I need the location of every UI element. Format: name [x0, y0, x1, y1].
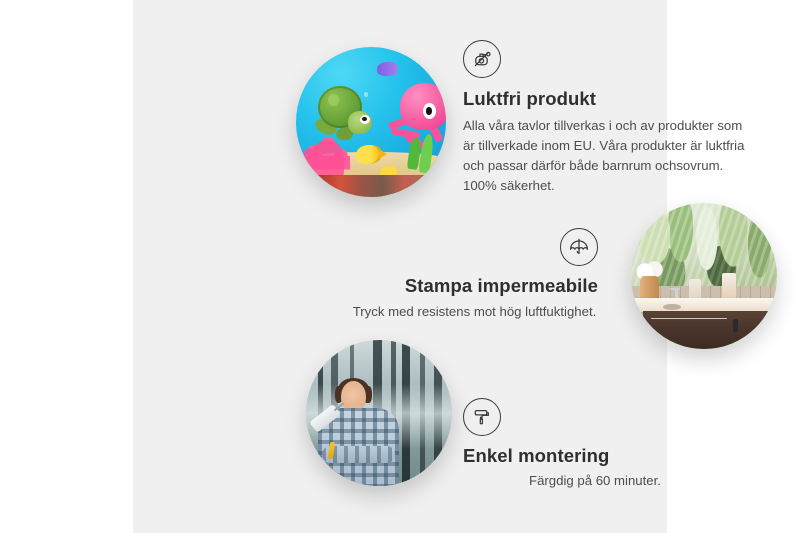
- yellow-fish-icon: [356, 145, 382, 165]
- vanity-cabinet: [643, 311, 777, 349]
- no-perfume-spray-icon: [463, 40, 501, 78]
- feature-waterproof-print: Stampa impermeabile Tryck med resistens …: [351, 228, 598, 322]
- feature-easy-install: Enkel montering Färgdig på 60 minuter.: [463, 398, 723, 491]
- feature-image-woman-with-paint-roller-forest[interactable]: [306, 340, 452, 486]
- bathroom-scene: [631, 203, 777, 349]
- feature-odor-free: Luktfri produkt Alla våra tavlor tillver…: [463, 40, 763, 196]
- person-figure: [315, 381, 403, 486]
- feature-image-bathroom-tropical-wallpaper[interactable]: [631, 203, 777, 349]
- coral-icon: [311, 140, 344, 176]
- underwater-scene: [296, 47, 446, 197]
- forest-scene: [306, 340, 452, 486]
- feature-image-underwater-kids-mural[interactable]: [296, 47, 446, 197]
- feature-title: Luktfri produkt: [463, 87, 763, 110]
- feature-body: Alla våra tavlor tillverkas i och av pro…: [463, 116, 753, 196]
- purple-fish-icon: [377, 62, 398, 76]
- content-panel: Luktfri produkt Alla våra tavlor tillver…: [133, 0, 667, 533]
- page-root: Luktfri produkt Alla våra tavlor tillver…: [0, 0, 800, 533]
- feature-body: Tryck med resistens mot hög luftfuktighe…: [351, 302, 598, 322]
- feature-body: Färgdig på 60 minuter.: [463, 471, 723, 491]
- paint-roller-icon: [463, 398, 501, 436]
- room-strip: [296, 175, 446, 198]
- umbrella-icon: [560, 228, 598, 266]
- feature-title: Stampa impermeabile: [351, 274, 598, 297]
- feature-title: Enkel montering: [463, 444, 723, 467]
- soap-dish-icon: [663, 304, 681, 310]
